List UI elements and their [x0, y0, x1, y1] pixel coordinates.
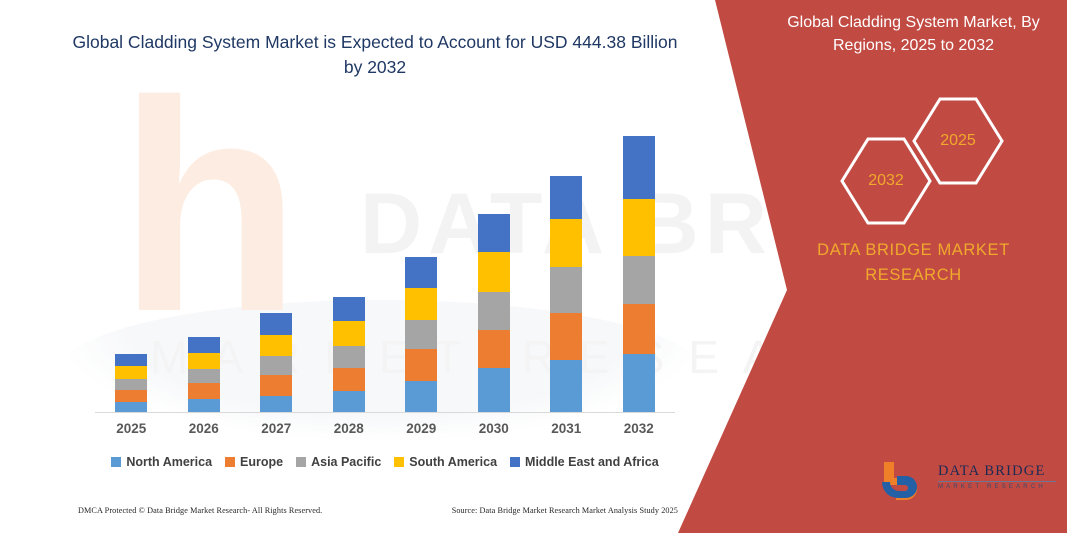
bar-segment: [550, 360, 582, 413]
legend-item-middle-east-and-africa[interactable]: Middle East and Africa: [510, 455, 659, 469]
legend-item-south-america[interactable]: South America: [394, 455, 497, 469]
bar-segment: [333, 391, 365, 413]
bar-segment: [333, 321, 365, 346]
bar-segment: [623, 354, 655, 413]
stacked-bar: [260, 313, 292, 413]
bar-segment: [550, 219, 582, 267]
bar-segment: [478, 330, 510, 369]
bar-group-2026: [168, 337, 241, 413]
hex-badge-2032: 2032: [838, 135, 934, 227]
x-axis-tick-2026: 2026: [168, 421, 241, 436]
bar-segment: [333, 346, 365, 368]
bar-segment: [623, 256, 655, 304]
x-axis-tick-2029: 2029: [385, 421, 458, 436]
legend-swatch-icon: [111, 457, 121, 467]
bar-group-2030: [458, 214, 531, 413]
bar-segment: [405, 320, 437, 349]
bar-segment: [405, 349, 437, 380]
x-axis-tick-2031: 2031: [530, 421, 603, 436]
bar-group-2029: [385, 257, 458, 413]
hex-badge-label: 2032: [868, 172, 904, 190]
legend-item-north-america[interactable]: North America: [111, 455, 212, 469]
bar-segment: [623, 136, 655, 198]
logo-subtitle: MARKET RESEARCH: [938, 484, 1056, 490]
bar-segment: [115, 366, 147, 378]
legend-item-europe[interactable]: Europe: [225, 455, 283, 469]
bar-segment: [478, 368, 510, 413]
chart-legend: North AmericaEuropeAsia PacificSouth Ame…: [95, 455, 675, 469]
legend-label: Middle East and Africa: [525, 455, 659, 469]
stacked-bar: [623, 136, 655, 413]
logo-divider: [938, 481, 1056, 482]
legend-label: Asia Pacific: [311, 455, 381, 469]
legend-swatch-icon: [510, 457, 520, 467]
legend-label: North America: [126, 455, 212, 469]
bar-segment: [405, 288, 437, 320]
logo-title: DATA BRIDGE: [938, 464, 1056, 480]
bar-group-2028: [313, 297, 386, 413]
bar-segment: [188, 369, 220, 383]
chart-x-axis-line: [95, 412, 675, 413]
bar-segment: [405, 381, 437, 413]
bar-segment: [115, 390, 147, 402]
bar-segment: [188, 399, 220, 413]
x-axis-tick-2030: 2030: [458, 421, 531, 436]
region-panel-title: Global Cladding System Market, By Region…: [770, 12, 1057, 57]
x-axis-tick-2027: 2027: [240, 421, 313, 436]
legend-swatch-icon: [225, 457, 235, 467]
bar-segment: [405, 257, 437, 288]
stacked-bar: [405, 257, 437, 413]
bar-segment: [550, 313, 582, 360]
legend-swatch-icon: [296, 457, 306, 467]
footer-source: Source: Data Bridge Market Research Mark…: [452, 506, 678, 515]
bar-segment: [478, 292, 510, 329]
hex-badge-label: 2025: [940, 132, 976, 150]
data-bridge-logo: DATA BRIDGE MARKET RESEARCH: [880, 458, 1060, 504]
bar-segment: [260, 396, 292, 413]
stacked-bar: [478, 214, 510, 413]
bar-segment: [260, 313, 292, 334]
bar-segment: [188, 337, 220, 353]
bar-segment: [623, 199, 655, 256]
x-axis-tick-2032: 2032: [603, 421, 676, 436]
chart-panel: Global Cladding System Market is Expecte…: [0, 0, 760, 533]
stacked-bar: [115, 354, 147, 413]
bar-segment: [478, 214, 510, 252]
legend-item-asia-pacific[interactable]: Asia Pacific: [296, 455, 381, 469]
stacked-bar: [333, 297, 365, 413]
right-panel-content: Global Cladding System Market, By Region…: [760, 0, 1067, 533]
stacked-bar: [188, 337, 220, 413]
bar-group-2027: [240, 313, 313, 413]
bar-segment: [623, 304, 655, 354]
chart-x-axis-labels: 20252026202720282029203020312032: [95, 421, 675, 443]
bar-segment: [188, 353, 220, 369]
bar-segment: [260, 356, 292, 375]
bar-segment: [115, 379, 147, 390]
data-bridge-logo-mark-icon: [880, 460, 932, 504]
stacked-bar: [550, 176, 582, 413]
bar-segment: [260, 335, 292, 357]
bar-segment: [333, 297, 365, 321]
chart-title: Global Cladding System Market is Expecte…: [70, 30, 680, 80]
bar-segment: [333, 368, 365, 392]
bar-segment: [115, 354, 147, 366]
bar-segment: [550, 267, 582, 313]
bar-group-2031: [530, 176, 603, 413]
legend-label: South America: [409, 455, 497, 469]
bar-segment: [550, 176, 582, 218]
legend-label: Europe: [240, 455, 283, 469]
bar-segment: [188, 383, 220, 399]
x-axis-tick-2028: 2028: [313, 421, 386, 436]
bar-group-2032: [603, 136, 676, 413]
bar-segment: [260, 375, 292, 396]
bar-segment: [478, 252, 510, 292]
x-axis-tick-2025: 2025: [95, 421, 168, 436]
bar-group-2025: [95, 354, 168, 413]
data-bridge-logo-text: DATA BRIDGE MARKET RESEARCH: [938, 464, 1056, 490]
footer-copyright: DMCA Protected © Data Bridge Market Rese…: [78, 506, 322, 515]
legend-swatch-icon: [394, 457, 404, 467]
chart-plot-area: [95, 120, 675, 413]
footer: DMCA Protected © Data Bridge Market Rese…: [78, 506, 678, 515]
brand-name: DATA BRIDGE MARKET RESEARCH: [780, 238, 1047, 288]
